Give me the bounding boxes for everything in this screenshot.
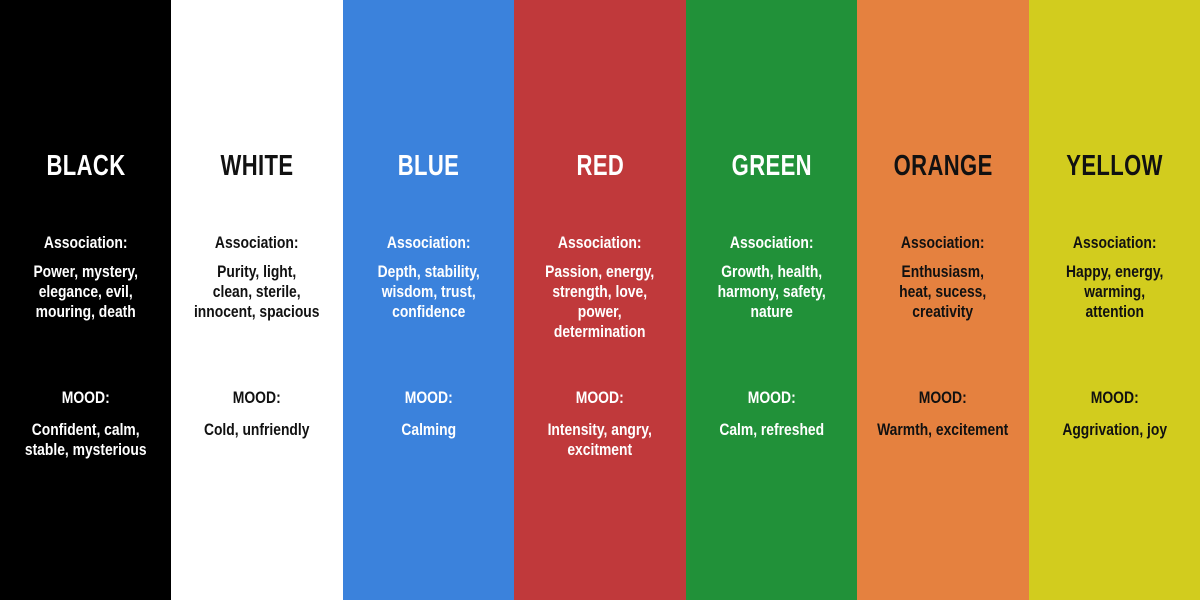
association-block: Association:Purity, light, clean, steril… <box>177 233 336 322</box>
color-title: YELLOW <box>1066 152 1163 181</box>
color-column-white: WHITEAssociation:Purity, light, clean, s… <box>171 0 342 600</box>
mood-label: MOOD: <box>1049 388 1180 408</box>
association-label: Association: <box>1049 233 1180 253</box>
association-text: Growth, health, harmony, safety, nature <box>704 262 838 322</box>
association-label: Association: <box>877 233 1008 253</box>
mood-block: MOOD:Cold, unfriendly <box>177 388 336 440</box>
mood-block: MOOD:Confident, calm, stable, mysterious <box>6 388 165 460</box>
association-block: Association:Growth, health, harmony, saf… <box>692 233 851 322</box>
association-label: Association: <box>535 233 666 253</box>
mood-label: MOOD: <box>535 388 666 408</box>
mood-text: Confident, calm, stable, mysterious <box>19 420 153 460</box>
color-column-orange: ORANGEAssociation:Enthusiasm, heat, suce… <box>857 0 1028 600</box>
association-text: Passion, energy, strength, love, power, … <box>533 262 667 343</box>
color-title: BLUE <box>398 152 460 181</box>
association-text: Purity, light, clean, sterile, innocent,… <box>190 262 324 322</box>
color-title: BLACK <box>46 152 125 181</box>
mood-text: Warmth, excitement <box>876 420 1010 440</box>
mood-label: MOOD: <box>877 388 1008 408</box>
color-column-yellow: YELLOWAssociation:Happy, energy, warming… <box>1029 0 1200 600</box>
association-text: Happy, energy, warming, attention <box>1047 262 1181 322</box>
color-title: ORANGE <box>893 152 992 181</box>
mood-text: Aggrivation, joy <box>1047 420 1181 440</box>
color-psychology-chart: BLACKAssociation:Power, mystery, eleganc… <box>0 0 1200 600</box>
association-text: Enthusiasm, heat, sucess, creativity <box>876 262 1010 322</box>
association-label: Association: <box>363 233 494 253</box>
mood-label: MOOD: <box>706 388 837 408</box>
association-label: Association: <box>20 233 151 253</box>
mood-label: MOOD: <box>363 388 494 408</box>
mood-text: Calm, refreshed <box>704 420 838 440</box>
association-text: Depth, stability, wisdom, trust, confide… <box>362 262 496 322</box>
color-column-red: REDAssociation:Passion, energy, strength… <box>514 0 685 600</box>
mood-block: MOOD:Calm, refreshed <box>692 388 851 440</box>
mood-block: MOOD:Calming <box>349 388 508 440</box>
mood-label: MOOD: <box>192 388 323 408</box>
mood-block: MOOD:Intensity, angry, excitment <box>520 388 679 460</box>
mood-text: Calming <box>362 420 496 440</box>
association-block: Association:Happy, energy, warming, atte… <box>1035 233 1194 322</box>
association-label: Association: <box>192 233 323 253</box>
mood-label: MOOD: <box>20 388 151 408</box>
association-block: Association:Power, mystery, elegance, ev… <box>6 233 165 322</box>
color-column-black: BLACKAssociation:Power, mystery, eleganc… <box>0 0 171 600</box>
color-title: WHITE <box>221 152 294 181</box>
color-title: RED <box>576 152 624 181</box>
color-column-green: GREENAssociation:Growth, health, harmony… <box>686 0 857 600</box>
mood-text: Cold, unfriendly <box>190 420 324 440</box>
mood-block: MOOD:Warmth, excitement <box>863 388 1022 440</box>
color-column-blue: BLUEAssociation:Depth, stability, wisdom… <box>343 0 514 600</box>
mood-text: Intensity, angry, excitment <box>533 420 667 460</box>
association-block: Association:Enthusiasm, heat, sucess, cr… <box>863 233 1022 322</box>
color-title: GREEN <box>731 152 811 181</box>
mood-block: MOOD:Aggrivation, joy <box>1035 388 1194 440</box>
association-block: Association:Passion, energy, strength, l… <box>520 233 679 342</box>
association-text: Power, mystery, elegance, evil, mouring,… <box>19 262 153 322</box>
association-label: Association: <box>706 233 837 253</box>
association-block: Association:Depth, stability, wisdom, tr… <box>349 233 508 322</box>
